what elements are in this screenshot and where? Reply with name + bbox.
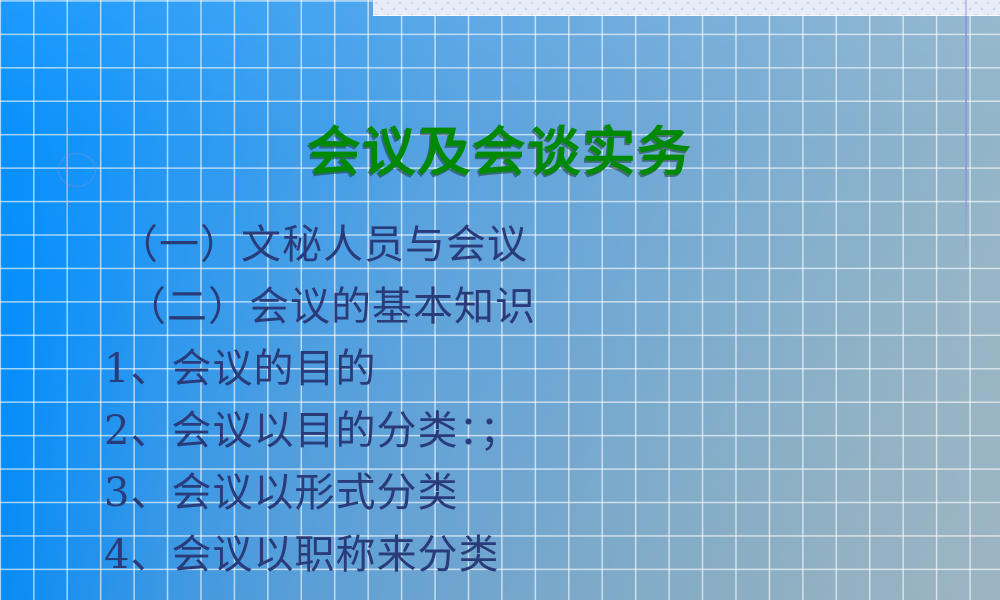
body-line-6: 4、会议以职称来分类 [100,524,960,586]
slide-title: 会议及会谈实务 [0,122,1000,183]
body-line-5: 3、会议以形式分类 [100,462,960,524]
top-pale-band-divider [965,0,967,16]
body-line-1: （一）文秘人员与会议 [100,214,960,276]
body-line-3: 1、会议的目的 [100,338,960,400]
body-line-4: 2、会议以目的分类：； [100,400,960,462]
slide-body: （一）文秘人员与会议 （二）会议的基本知识 1、会议的目的 2、会议以目的分类：… [100,214,960,586]
body-line-2: （二）会议的基本知识 [100,276,960,338]
presentation-slide: 会议及会谈实务 （一）文秘人员与会议 （二）会议的基本知识 1、会议的目的 2、… [0,0,1000,600]
top-pale-band [373,0,1000,16]
